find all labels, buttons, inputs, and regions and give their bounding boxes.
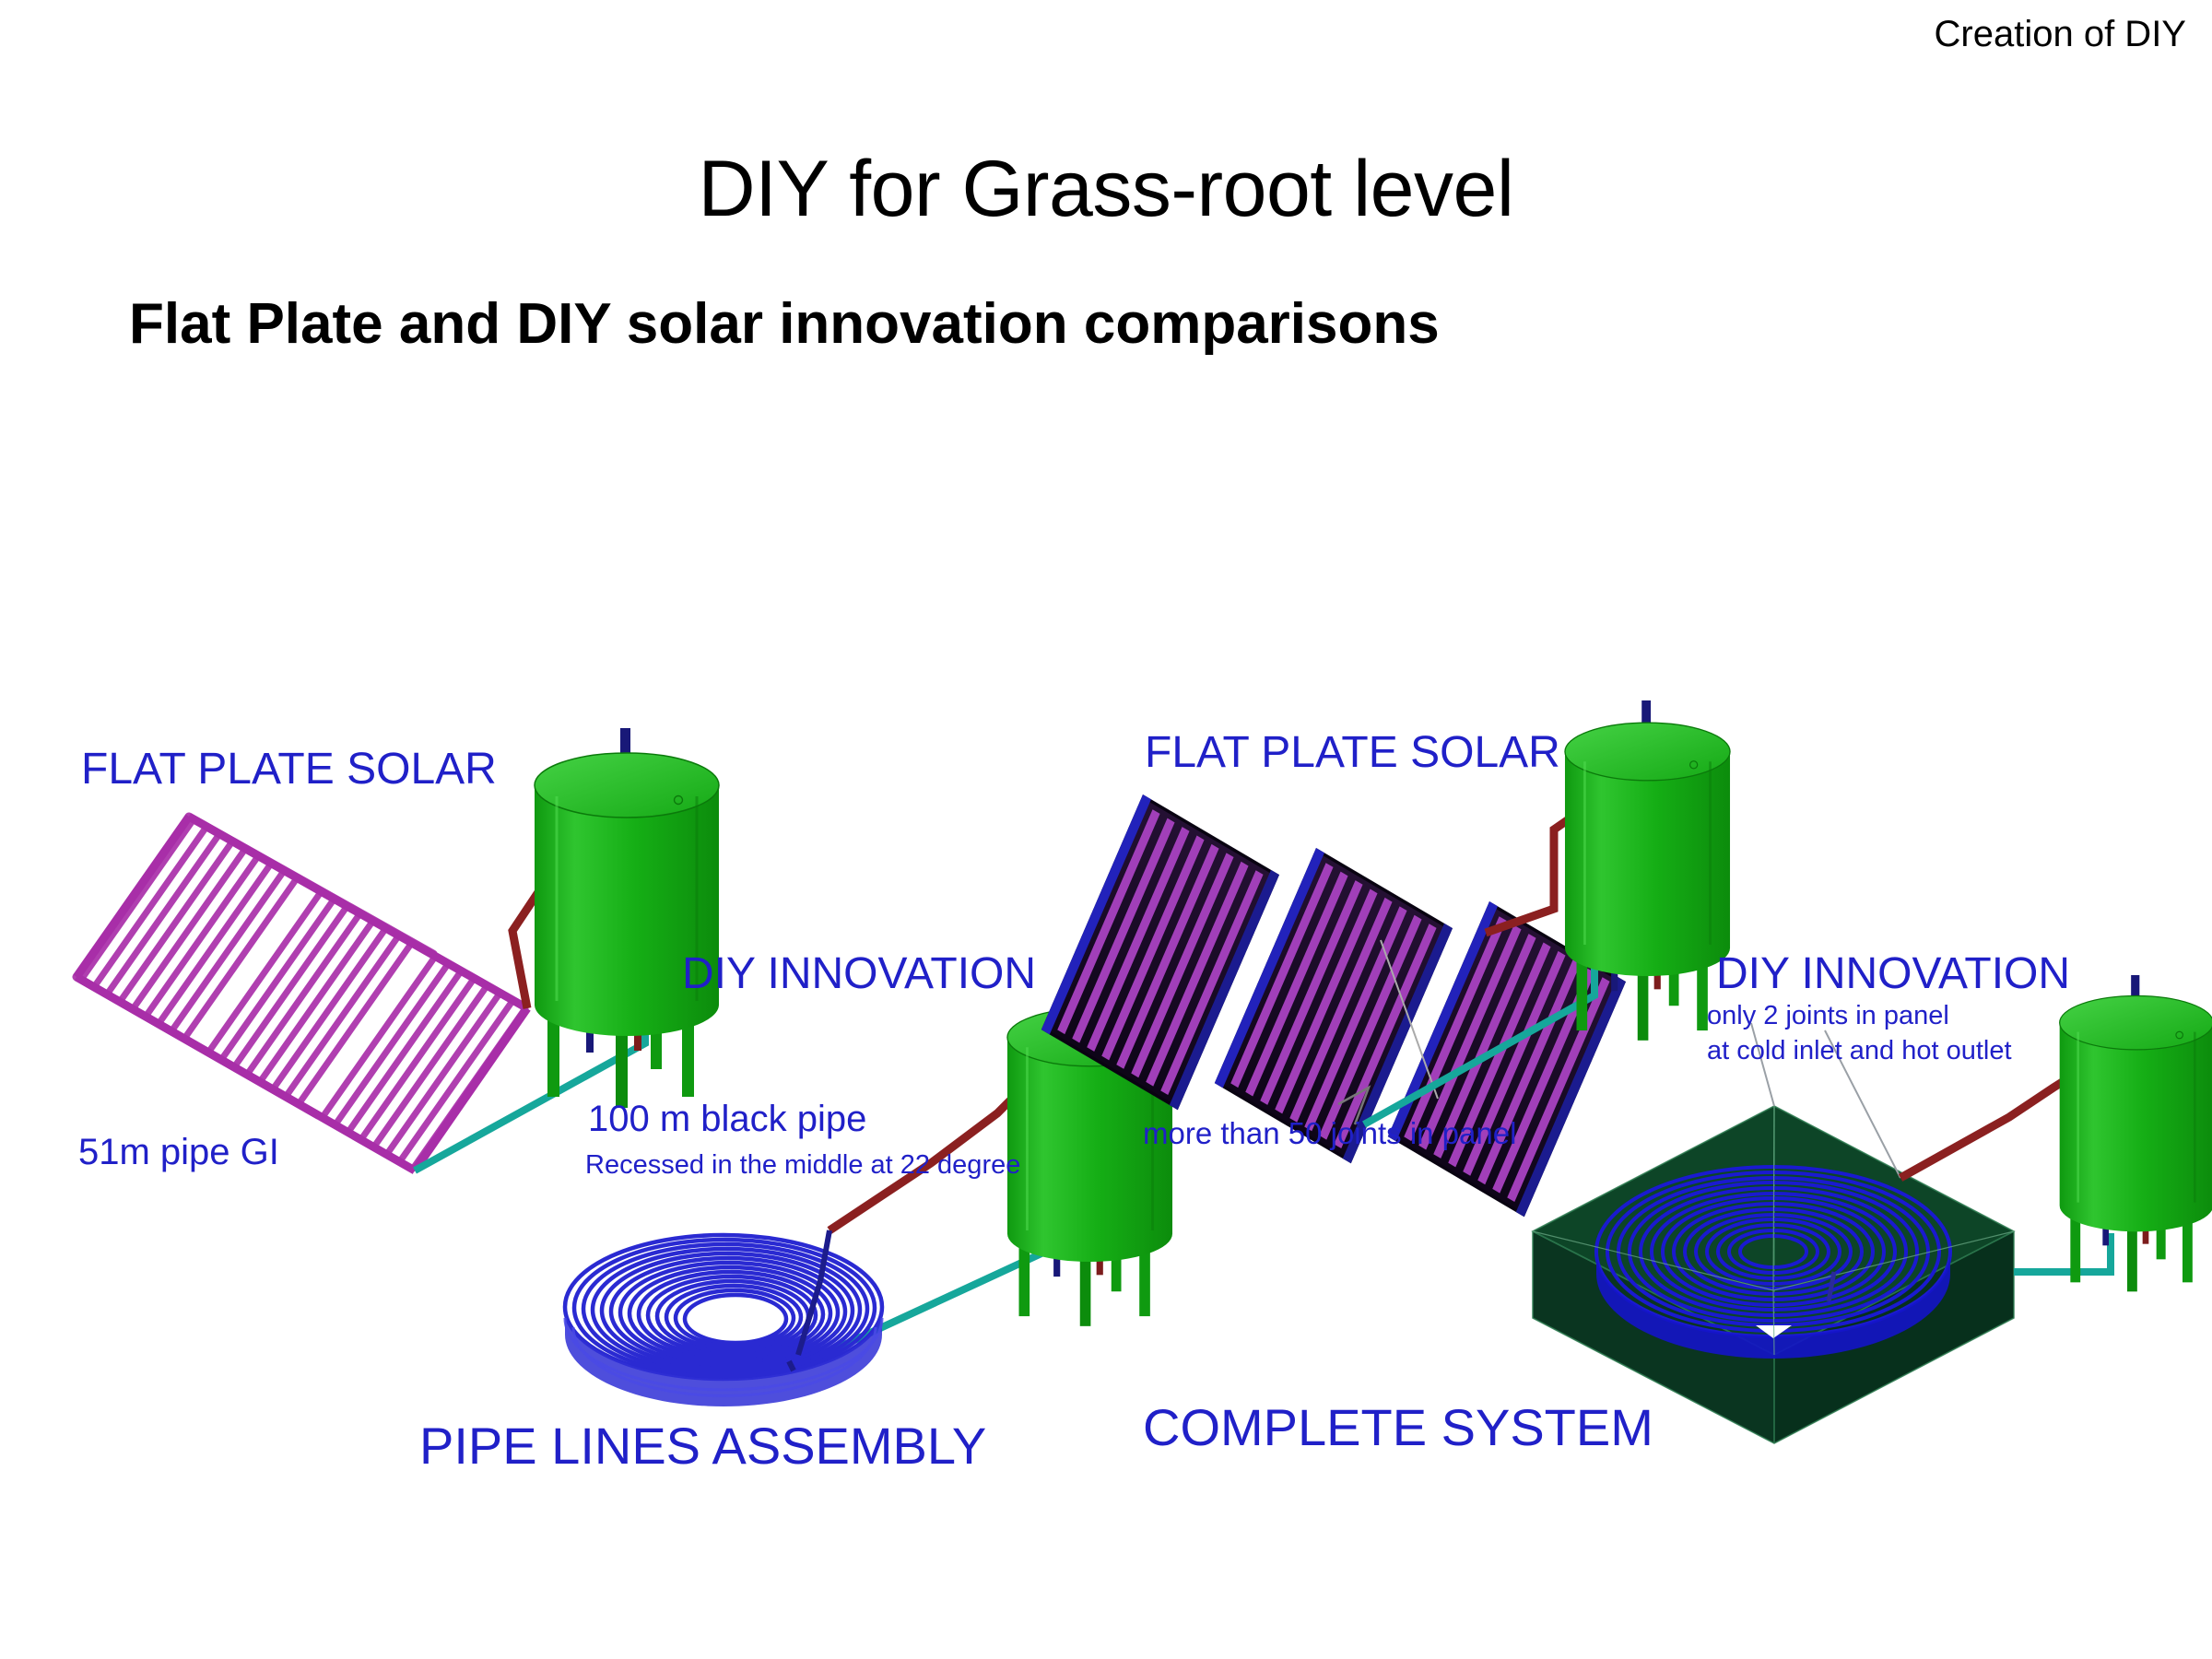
- complete-system-base: [1533, 1023, 2014, 1443]
- label-cold-inlet-hot-outlet: at cold inlet and hot outlet: [1707, 1036, 2012, 1065]
- flat-plate-collector-left: [76, 817, 527, 1171]
- storage-tank-1: [535, 608, 719, 1108]
- label-only-2-joints: only 2 joints in panel: [1707, 1001, 1949, 1030]
- slide-canvas: Creation of DIY DIY for Grass-root level…: [0, 0, 2212, 1659]
- hot-pipe-complete: [1900, 1075, 2074, 1178]
- label-recessed-22-degree: Recessed in the middle at 22 degree: [585, 1150, 1020, 1180]
- label-diy-innovation-complete: DIY INNOVATION: [1716, 949, 2070, 999]
- label-diy-innovation-coil: DIY INNOVATION: [682, 949, 1036, 999]
- label-more-than-50-joints: more than 50 joints in panel: [1143, 1117, 1516, 1151]
- caption-complete-system: COMPLETE SYSTEM: [1143, 1399, 1653, 1457]
- diagram-artwork: [0, 0, 2212, 1659]
- caption-pipe-lines-assembly: PIPE LINES ASSEMBLY: [419, 1418, 986, 1476]
- pipe-coil-spiral: [565, 1230, 882, 1406]
- label-51m-pipe-gi: 51m pipe GI: [78, 1132, 279, 1173]
- label-flat-plate-solar-left: FLAT PLATE SOLAR: [81, 745, 497, 794]
- cold-pipe-complete: [2014, 1233, 2111, 1272]
- label-100m-black-pipe: 100 m black pipe: [588, 1099, 866, 1140]
- label-flat-plate-solar-right: FLAT PLATE SOLAR: [1145, 728, 1560, 778]
- storage-tank-4: [2060, 876, 2212, 1292]
